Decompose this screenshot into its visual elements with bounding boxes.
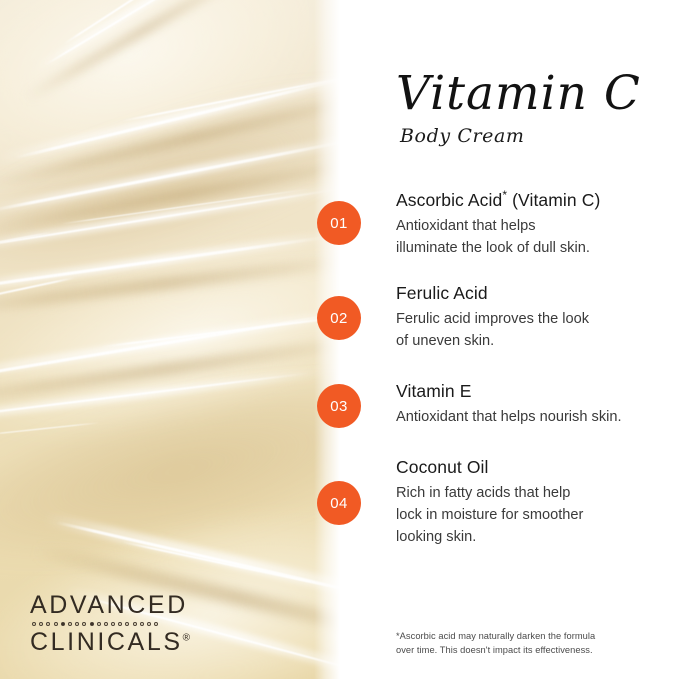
benefit-title-04: Coconut Oil — [396, 457, 668, 479]
benefit-badge-number-01: 01 — [330, 215, 348, 232]
cream-highlight — [0, 366, 329, 426]
footnote-text: *Ascorbic acid may naturally darken the … — [396, 629, 656, 658]
cream-highlight — [122, 76, 340, 122]
brand-logo: ADVANCED CLINICALS® — [30, 593, 206, 655]
benefit-badge-03: 03 — [317, 384, 361, 428]
benefit-item-04: Coconut Oil Rich in fatty acids that hel… — [396, 457, 668, 549]
product-benefits-poster: ADVANCED CLINICALS® Vitamin C Body Cream… — [0, 0, 679, 679]
benefit-description-04: Rich in fatty acids that help lock in mo… — [396, 483, 668, 549]
cream-glow — [0, 189, 340, 482]
brand-logo-line-2: CLINICALS® — [30, 630, 206, 656]
benefit-badge-number-02: 02 — [330, 310, 348, 327]
cream-glow — [0, 0, 340, 226]
benefit-title-02: Ferulic Acid — [396, 283, 668, 305]
cream-highlight — [0, 132, 340, 218]
cream-highlight — [0, 183, 340, 254]
benefit-item-03: Vitamin E Antioxidant that helps nourish… — [396, 381, 668, 429]
cream-highlight — [0, 422, 100, 435]
benefit-badge-02: 02 — [317, 296, 361, 340]
benefit-description-01: Antioxidant that helps illuminate the lo… — [396, 216, 668, 260]
benefit-badge-01: 01 — [317, 201, 361, 245]
benefit-title-text-03: Vitamin E — [396, 381, 471, 401]
registered-trademark-icon: ® — [183, 632, 190, 643]
cream-highlight — [0, 139, 340, 212]
page-title: Vitamin C — [396, 70, 671, 117]
title-block: Vitamin C Body Cream — [396, 70, 671, 147]
cream-highlight — [56, 521, 340, 598]
cream-shadow — [0, 336, 340, 408]
cream-shade — [0, 52, 340, 308]
benefit-title-text-01: Ascorbic Acid — [396, 190, 502, 210]
cream-shadow — [0, 157, 340, 236]
benefit-item-02: Ferulic Acid Ferulic acid improves the l… — [396, 283, 668, 353]
cream-texture-photo: ADVANCED CLINICALS® — [0, 0, 340, 679]
benefit-item-01: Ascorbic Acid* (Vitamin C) Antioxidant t… — [396, 188, 668, 259]
cream-highlight — [0, 232, 52, 245]
benefit-title-01: Ascorbic Acid* (Vitamin C) — [396, 188, 668, 212]
benefit-title-text-04: Coconut Oil — [396, 457, 489, 477]
benefit-description-03: Antioxidant that helps nourish skin. — [396, 407, 668, 429]
cream-highlight — [122, 541, 340, 593]
cream-shade — [0, 346, 340, 595]
benefit-title-suffix-01: (Vitamin C) — [507, 190, 600, 210]
cream-highlight — [0, 311, 340, 381]
cream-highlight — [0, 69, 340, 164]
cream-highlight — [44, 0, 225, 66]
cream-highlight — [0, 236, 328, 292]
benefit-title-text-02: Ferulic Acid — [396, 283, 488, 303]
benefit-badge-04: 04 — [317, 481, 361, 525]
cream-shadow — [0, 255, 340, 317]
cream-highlight — [0, 372, 309, 422]
brand-logo-line-2-text: CLINICALS — [30, 628, 183, 656]
benefit-description-02: Ferulic acid improves the look of uneven… — [396, 309, 668, 353]
cream-highlight — [0, 188, 338, 250]
benefit-badge-number-03: 03 — [330, 398, 348, 415]
cream-highlight — [0, 306, 340, 383]
benefit-badge-number-04: 04 — [330, 495, 348, 512]
benefit-title-03: Vitamin E — [396, 381, 668, 403]
brand-logo-line-1: ADVANCED — [30, 593, 206, 619]
page-subtitle: Body Cream — [400, 125, 671, 147]
cream-highlight — [33, 0, 242, 72]
cream-highlight — [64, 0, 191, 44]
cream-highlight — [14, 76, 340, 159]
cream-highlight — [61, 189, 309, 225]
cream-shadow — [0, 92, 340, 190]
cream-highlight — [101, 314, 340, 347]
cream-highlight — [0, 230, 339, 296]
cream-highlight — [0, 277, 75, 297]
content-panel: Vitamin C Body Cream Ascorbic Acid* (Vit… — [340, 0, 679, 679]
cream-shadow — [22, 0, 243, 103]
